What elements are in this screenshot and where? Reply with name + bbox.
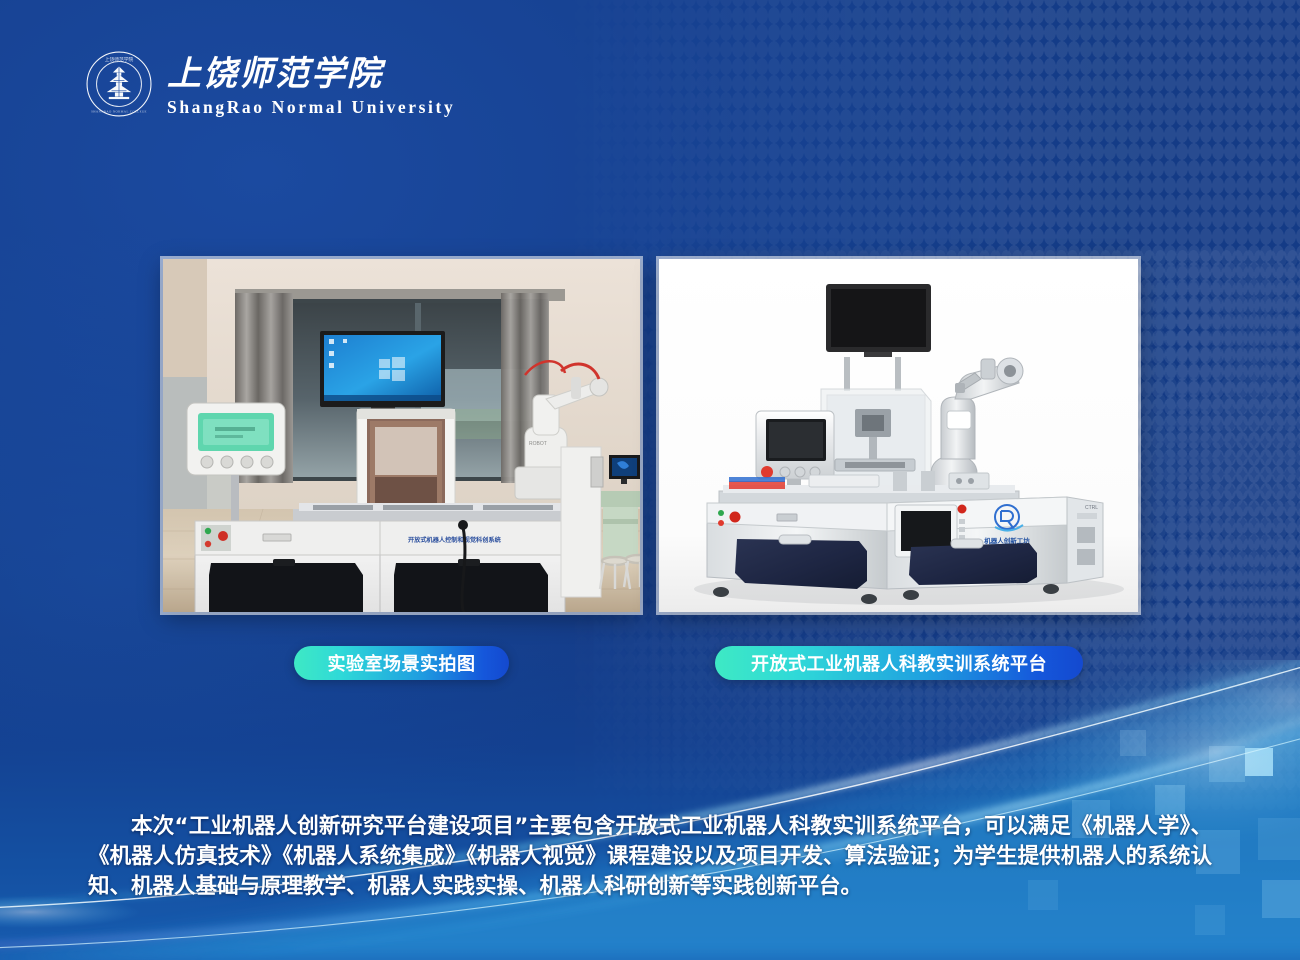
background-lower-glow <box>0 630 1300 960</box>
product-render-svg: 机器人创新工坊 CTRL <box>659 259 1138 612</box>
university-name-cn-text: 上饶师范学院 <box>167 54 387 94</box>
decor-square <box>1258 818 1300 860</box>
overhead-monitor <box>826 284 931 357</box>
decor-square <box>1209 746 1245 782</box>
university-name-cn: 上饶师范学院 <box>167 51 417 95</box>
university-name-en: ShangRao Normal University <box>167 99 455 117</box>
training-platform-render[interactable]: 机器人创新工坊 CTRL <box>659 259 1138 612</box>
cabinet-left <box>195 521 380 612</box>
seal-svg: 上饶师范学院 SHANGRAO NORMAL COLLEGE <box>85 50 153 118</box>
university-name-block: 上饶师范学院 ShangRao Normal University <box>167 51 455 117</box>
svg-text:SHANGRAO NORMAL COLLEGE: SHANGRAO NORMAL COLLEGE <box>91 110 147 114</box>
decor-square <box>1262 880 1300 918</box>
room-right-furniture <box>561 447 640 597</box>
slide-root: 上饶师范学院 SHANGRAO NORMAL COLLEGE <box>0 0 1300 960</box>
decor-square <box>1120 730 1146 756</box>
university-seal-icon: 上饶师范学院 SHANGRAO NORMAL COLLEGE <box>85 50 153 118</box>
caption-pill-laboratory-label: 实验室场景实拍图 <box>328 650 476 676</box>
decor-square <box>1245 748 1273 776</box>
caption-pill-platform-label: 开放式工业机器人科教实训系统平台 <box>751 650 1047 676</box>
side-rack: CTRL <box>1067 497 1103 583</box>
decor-square <box>1155 785 1185 815</box>
svg-text:ROBOT: ROBOT <box>529 441 547 447</box>
lab-photo-svg: ROBOT <box>163 259 640 612</box>
caption-pill-laboratory[interactable]: 实验室场景实拍图 <box>294 646 509 680</box>
cabinet-label: 开放式机器人控制和视觉科创系统 <box>408 536 502 544</box>
svg-text:上饶师范学院: 上饶师范学院 <box>105 56 134 63</box>
university-logo: 上饶师范学院 SHANGRAO NORMAL COLLEGE <box>85 50 455 118</box>
cabinet-right: 开放式机器人控制和视觉科创系统 <box>380 521 565 612</box>
caption-pill-platform[interactable]: 开放式工业机器人科教实训系统平台 <box>715 646 1083 680</box>
svg-text:CTRL: CTRL <box>1085 505 1098 511</box>
decor-square <box>1195 905 1225 935</box>
description-paragraph: 本次“工业机器人创新研究平台建设项目”主要包含开放式工业机器人科教实训系统平台，… <box>88 812 1212 902</box>
laboratory-scene-photo[interactable]: ROBOT <box>163 259 640 612</box>
